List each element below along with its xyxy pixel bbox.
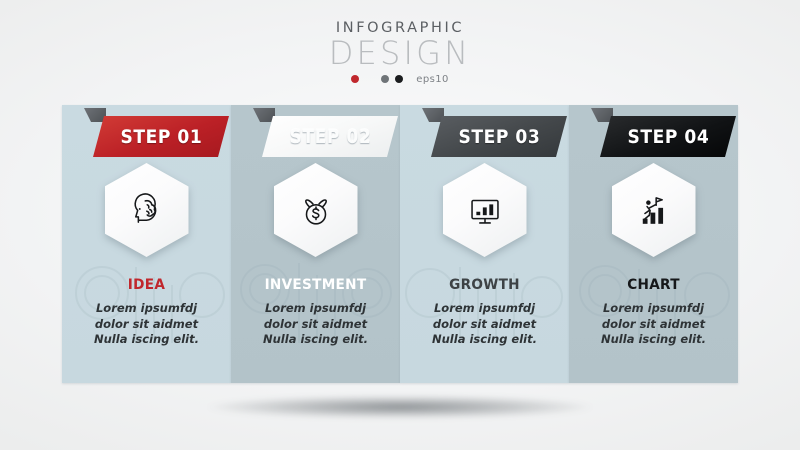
step-icon-hexagon-4[interactable]	[612, 163, 696, 257]
ribbon-fold	[422, 108, 444, 122]
ground-shadow	[150, 392, 650, 422]
dot-gray-icon	[381, 75, 389, 83]
step-body-3: Lorem ipsumfdj dolor sit aidmet Nulla is…	[408, 301, 561, 348]
dot-red-icon	[351, 75, 359, 83]
body-line: Lorem ipsumfdj	[239, 301, 392, 317]
hexagon-shape	[443, 163, 527, 257]
ribbon-label: STEP 04	[627, 126, 709, 148]
ribbon-fold	[591, 108, 613, 122]
ribbon-fold	[253, 108, 275, 122]
ribbon-label: STEP 01	[120, 126, 202, 148]
step-icon-hexagon-2[interactable]	[274, 163, 358, 257]
body-line: dolor sit aidmet	[70, 317, 223, 333]
step-ribbon-4[interactable]: STEP 04	[591, 108, 741, 160]
ribbon-body[interactable]: STEP 03	[431, 116, 567, 157]
step-body-2: Lorem ipsumfdj dolor sit aidmet Nulla is…	[239, 301, 392, 348]
monitor-bar-chart-icon	[466, 191, 504, 229]
step-ribbon-2[interactable]: STEP 02	[253, 108, 403, 160]
body-line: Nulla iscing elit.	[239, 332, 392, 348]
hexagon-shape	[105, 163, 189, 257]
infographic-canvas: INFOGRAPHIC DESIGN eps10	[0, 0, 800, 450]
hexagon-shape	[612, 163, 696, 257]
steps-container: STEP 01	[62, 105, 738, 383]
step-ribbon-3[interactable]: STEP 03	[422, 108, 572, 160]
step-icon-hexagon-3[interactable]	[443, 163, 527, 257]
header-dot-row: eps10	[0, 74, 800, 85]
step-panel-2[interactable]: STEP 02	[231, 105, 400, 383]
body-line: Lorem ipsumfdj	[70, 301, 223, 317]
step-title-2: INVESTMENT	[236, 277, 395, 293]
ribbon-body[interactable]: STEP 04	[600, 116, 736, 157]
step-ribbon-1[interactable]: STEP 01	[84, 108, 234, 160]
body-line: Lorem ipsumfdj	[408, 301, 561, 317]
head-brain-icon	[128, 191, 166, 229]
step-panel-1[interactable]: STEP 01	[62, 105, 231, 383]
hexagon-shape	[274, 163, 358, 257]
body-line: Nulla iscing elit.	[70, 332, 223, 348]
header: INFOGRAPHIC DESIGN eps10	[0, 20, 800, 85]
step-body-4: Lorem ipsumfdj dolor sit aidmet Nulla is…	[577, 301, 730, 348]
dot-black-icon	[395, 75, 403, 83]
eps-version-label: eps10	[416, 74, 448, 85]
step-panel-3[interactable]: STEP 03	[400, 105, 569, 383]
step-panel-4[interactable]: STEP 04	[569, 105, 738, 383]
person-climbing-bars-flag-icon	[635, 191, 673, 229]
ribbon-label: STEP 02	[289, 126, 371, 148]
body-line: Nulla iscing elit.	[408, 332, 561, 348]
ribbon-label: STEP 03	[458, 126, 540, 148]
piggy-bank-dollar-icon	[297, 191, 335, 229]
body-line: dolor sit aidmet	[577, 317, 730, 333]
step-title-1: IDEA	[67, 277, 226, 293]
ribbon-body[interactable]: STEP 01	[93, 116, 229, 157]
step-icon-hexagon-1[interactable]	[105, 163, 189, 257]
step-title-4: CHART	[574, 277, 733, 293]
step-body-1: Lorem ipsumfdj dolor sit aidmet Nulla is…	[70, 301, 223, 348]
header-title-secondary: DESIGN	[0, 37, 800, 71]
body-line: Nulla iscing elit.	[577, 332, 730, 348]
body-line: Lorem ipsumfdj	[577, 301, 730, 317]
step-title-3: GROWTH	[405, 277, 564, 293]
ribbon-body[interactable]: STEP 02	[262, 116, 398, 157]
ribbon-fold	[84, 108, 106, 122]
body-line: dolor sit aidmet	[239, 317, 392, 333]
body-line: dolor sit aidmet	[408, 317, 561, 333]
